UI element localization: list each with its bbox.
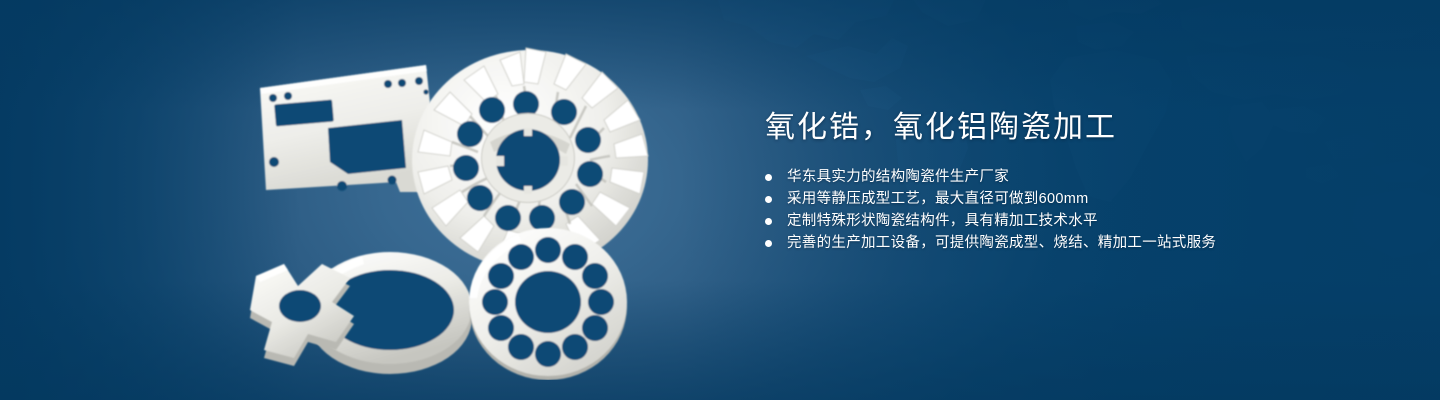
dot-bullet-icon — [765, 174, 772, 181]
feature-text: 定制特殊形状陶瓷结构件，具有精加工技术水平 — [787, 213, 1098, 229]
dot-bullet-icon — [765, 240, 772, 247]
banner-text-block: 氧化锆，氧化铝陶瓷加工 华东具实力的结构陶瓷件生产厂家 采用等静压成型工艺，最大… — [765, 108, 1325, 251]
dot-bullet-icon — [765, 196, 772, 203]
feature-text: 华东具实力的结构陶瓷件生产厂家 — [787, 169, 1009, 185]
ceramic-products-image — [230, 40, 710, 380]
feature-text: 完善的生产加工设备，可提供陶瓷成型、烧结、精加工一站式服务 — [787, 235, 1216, 251]
ceramic-perforated-disc — [469, 228, 627, 380]
feature-list: 华东具实力的结构陶瓷件生产厂家 采用等静压成型工艺，最大直径可做到600mm 定… — [765, 170, 1325, 251]
feature-text: 采用等静压成型工艺，最大直径可做到600mm — [787, 191, 1088, 207]
list-item: 定制特殊形状陶瓷结构件，具有精加工技术水平 — [765, 214, 1325, 229]
ceramic-plate-with-cutouts — [260, 65, 436, 192]
ceramic-processing-banner: 氧化锆，氧化铝陶瓷加工 华东具实力的结构陶瓷件生产厂家 采用等静压成型工艺，最大… — [0, 0, 1440, 400]
list-item: 采用等静压成型工艺，最大直径可做到600mm — [765, 192, 1325, 207]
list-item: 完善的生产加工设备，可提供陶瓷成型、烧结、精加工一站式服务 — [765, 236, 1325, 251]
background-top-fade — [0, 0, 1440, 110]
page-title: 氧化锆，氧化铝陶瓷加工 — [765, 108, 1325, 148]
list-item: 华东具实力的结构陶瓷件生产厂家 — [765, 170, 1325, 185]
background-bottom-fade — [0, 280, 1440, 400]
dot-bullet-icon — [765, 218, 772, 225]
